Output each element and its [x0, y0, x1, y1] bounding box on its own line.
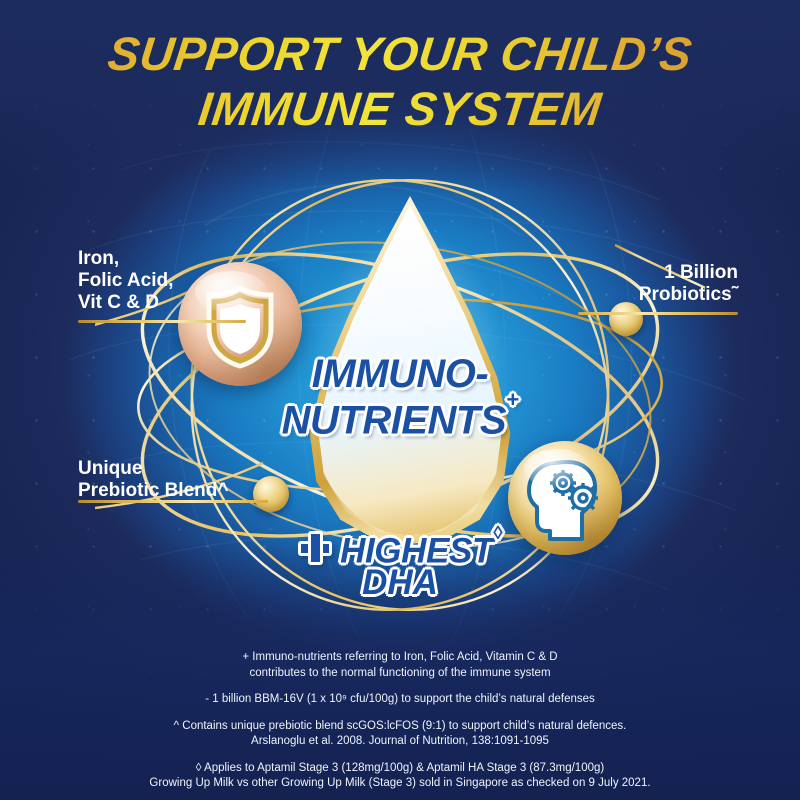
shield-icon: [178, 262, 302, 386]
lockup-line-1: IMMUNO-: [0, 355, 800, 393]
sphere-gloss: [195, 271, 267, 313]
headline: SUPPORT YOUR CHILD’S IMMUNE SYSTEM: [0, 26, 800, 136]
callout-label-prebiotic-blend: Unique Prebiotic Blend^: [78, 458, 228, 502]
advertisement-canvas: SUPPORT YOUR CHILD’S IMMUNE SYSTEM: [0, 0, 800, 800]
highest-dha-lockup: HIGHEST◊ DHA: [0, 528, 800, 600]
plus-badge-icon: [298, 531, 332, 565]
lockup-line-2-text: NUTRIENTS: [282, 398, 506, 442]
footnote-dha: ◊ Applies to Aptamil Stage 3 (128mg/100g…: [0, 761, 800, 792]
headline-line-2: IMMUNE SYSTEM: [0, 81, 800, 136]
lockup-line-2: NUTRIENTS+: [0, 393, 800, 439]
footnotes: + Immuno-nutrients referring to Iron, Fo…: [0, 650, 800, 792]
footnote-immuno-nutrients: + Immuno-nutrients referring to Iron, Fo…: [0, 650, 800, 681]
callout-rule-top-right: [578, 312, 738, 315]
brain-gears-icon: [508, 441, 622, 555]
sphere-gloss: [524, 449, 590, 488]
dha-word-highest: HIGHEST◊: [340, 528, 502, 568]
callout-rule-top-left: [78, 320, 246, 323]
immuno-nutrients-lockup: IMMUNO- NUTRIENTS+: [0, 355, 800, 439]
gold-bead-icon-left: [253, 476, 289, 512]
footnote-probiotics: - 1 billion BBM-16V (1 x 10⁹ cfu/100g) t…: [0, 692, 800, 708]
callout-label-iron-folic-vitamins: Iron, Folic Acid, Vit C & D: [78, 248, 173, 314]
callout-rule-bottom-left: [78, 500, 268, 503]
lockup-superscript: +: [506, 387, 518, 412]
headline-line-1: SUPPORT YOUR CHILD’S: [0, 26, 800, 81]
gold-bead-icon-right: [609, 302, 643, 336]
callout-label-probiotics: 1 Billion Probiotics˜: [639, 262, 738, 306]
dha-superscript: ◊: [493, 523, 502, 544]
footnote-prebiotic: ^ Contains unique prebiotic blend scGOS:…: [0, 719, 800, 750]
